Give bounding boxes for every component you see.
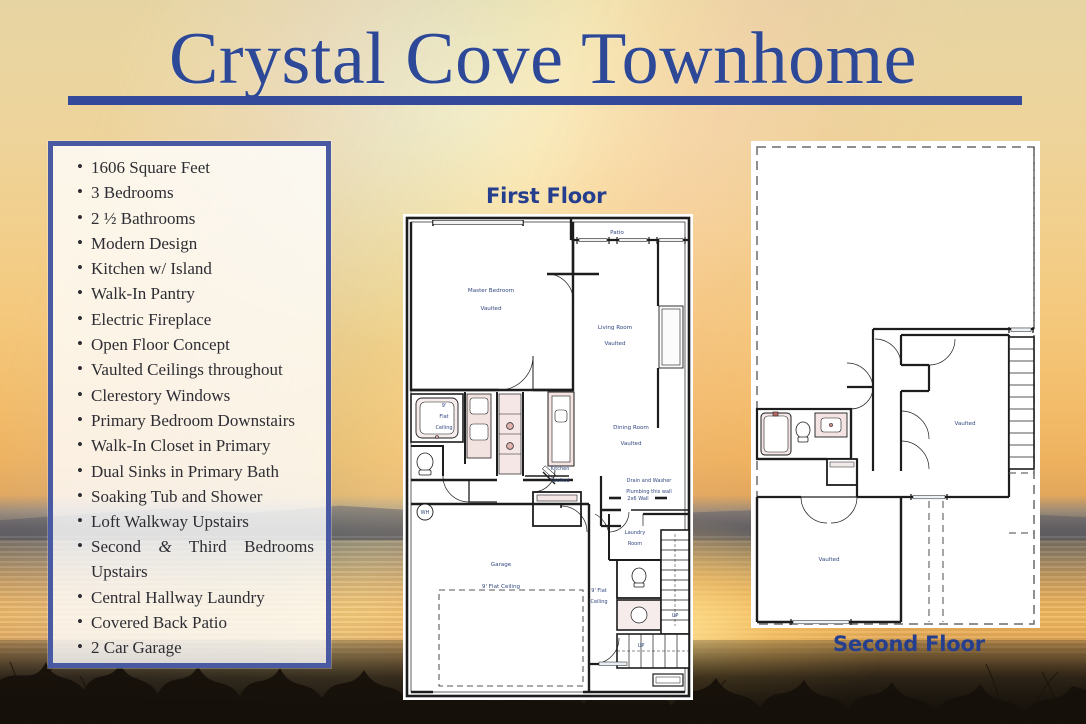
room-label-primary-bath-ceiling-2: Flat xyxy=(439,414,448,420)
room-label-kitchen: Kitchen xyxy=(551,466,570,472)
feature-list-item: Loft Walkway Upstairs xyxy=(77,510,314,535)
second-floor-heading: Second Floor xyxy=(833,632,985,656)
room-label-hall-ceiling-2: Ceiling xyxy=(590,599,607,605)
feature-list-item: 1606 Square Feet xyxy=(77,156,314,181)
second-floor-plan: Vaulted Vaulted xyxy=(751,141,1040,628)
annotation-water-heater: WH xyxy=(421,510,430,516)
room-label-laundry-1: Laundry xyxy=(625,530,645,536)
annotation-up-2: UP xyxy=(638,643,645,649)
room-label-bedroom-three-vaulted: Vaulted xyxy=(954,421,976,427)
feature-list-item: Dual Sinks in Primary Bath xyxy=(77,460,314,485)
page-title: Crystal Cove Townhome xyxy=(0,22,1086,96)
annotation-up-1: UP xyxy=(672,613,679,619)
feature-list-item: Modern Design xyxy=(77,232,314,257)
room-label-dining-room: Dining Room xyxy=(613,425,649,431)
title-underline xyxy=(68,96,1022,105)
first-floor-plan: Patio Master Bedroom Vaulted Living Room… xyxy=(403,214,693,700)
room-label-primary-bath-ceiling-1: 9' xyxy=(442,403,447,409)
annotation-drain-washer-2: Plumbing this wall xyxy=(626,489,672,495)
annotation-2x6-wall: 2x6 Wall xyxy=(627,496,648,502)
room-label-master-bedroom: Master Bedroom xyxy=(468,288,514,294)
feature-list-item: 2 Car Garage xyxy=(77,636,314,661)
feature-list-item: Walk-In Closet in Primary xyxy=(77,434,314,459)
room-label-garage-ceiling: 9' Flat Ceiling xyxy=(482,584,521,590)
feature-list-item: Covered Back Patio xyxy=(77,611,314,636)
feature-list-item: Kitchen w/ Island xyxy=(77,257,314,282)
room-label-patio: Patio xyxy=(610,230,624,236)
first-floor-heading: First Floor xyxy=(486,184,606,208)
flyer-canvas: Crystal Cove Townhome 1606 Square Feet3 … xyxy=(0,0,1086,724)
feature-list-item: Soaking Tub and Shower xyxy=(77,485,314,510)
room-label-hall-ceiling-1: 9' Flat xyxy=(591,588,606,594)
room-label-primary-bath-ceiling-3: Ceiling xyxy=(435,425,452,431)
room-label-living-vaulted: Vaulted xyxy=(604,341,626,347)
feature-list-item: Clerestory Windows xyxy=(77,384,314,409)
property-features-panel: 1606 Square Feet3 Bedrooms2 ½ BathroomsM… xyxy=(48,141,331,668)
feature-list-item: Walk-In Pantry xyxy=(77,282,314,307)
feature-list-item: Central Hallway Laundry xyxy=(77,586,314,611)
room-label-dining-vaulted: Vaulted xyxy=(620,441,642,447)
room-label-laundry-2: Room xyxy=(628,541,642,547)
room-label-master-vaulted: Vaulted xyxy=(480,306,502,312)
feature-list-item: Vaulted Ceilings throughout xyxy=(77,358,314,383)
annotation-drain-washer-1: Drain and Washer xyxy=(627,478,673,484)
room-label-kitchen-vaulted: Vaulted xyxy=(551,478,570,484)
feature-list-item: Open Floor Concept xyxy=(77,333,314,358)
feature-list-item: Primary Bedroom Downstairs xyxy=(77,409,314,434)
room-label-living-room: Living Room xyxy=(598,325,632,331)
room-label-bedroom-two-vaulted: Vaulted xyxy=(818,557,840,563)
page-title-wrap: Crystal Cove Townhome xyxy=(0,22,1086,96)
feature-list-item: Electric Fireplace xyxy=(77,308,314,333)
feature-list-item: 2 ½ Bathrooms xyxy=(77,207,314,232)
feature-list-item: 3 Bedrooms xyxy=(77,181,314,206)
property-features-list: 1606 Square Feet3 Bedrooms2 ½ BathroomsM… xyxy=(53,146,326,669)
feature-list-item: Second & Third Bedrooms Upstairs xyxy=(77,535,314,585)
room-label-garage: Garage xyxy=(491,562,512,568)
